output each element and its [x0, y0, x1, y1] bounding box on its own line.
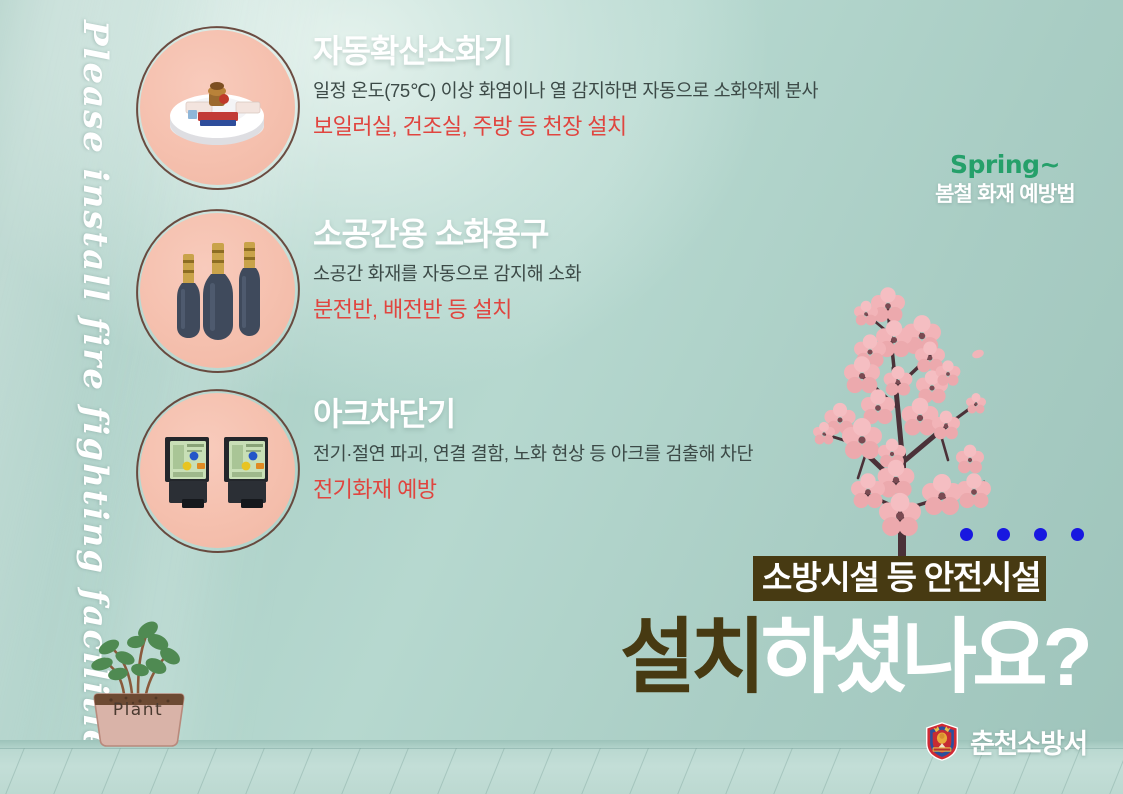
item-1-text: 자동확산소화기 일정 온도(75℃) 이상 화염이나 열 감지하면 자동으로 소… — [313, 34, 913, 141]
dot-2 — [997, 528, 1010, 541]
floor-plank — [323, 748, 373, 794]
headline-main: 설치하셨나요? — [620, 617, 1088, 699]
floor-plank — [851, 748, 901, 794]
plant-pot-illustration: Plant — [78, 608, 198, 748]
floor-plank — [803, 748, 853, 794]
item-1-description: 일정 온도(75℃) 이상 화염이나 열 감지하면 자동으로 소화약제 분사 — [313, 79, 913, 104]
poster-canvas: Please install fire fighting facilities — [0, 0, 1123, 794]
spring-badge: Spring~ 봄철 화재 예방법 — [905, 152, 1105, 205]
cherry-blossom-icon — [770, 248, 1030, 558]
floor-plank — [131, 748, 181, 794]
floor-plank — [419, 748, 469, 794]
floor-plank — [755, 748, 805, 794]
floor-plank — [1091, 748, 1123, 794]
spring-badge-english: Spring~ — [905, 152, 1105, 177]
floor-plank — [179, 748, 229, 794]
headline-band: 소방시설 등 안전시설 — [753, 556, 1046, 601]
floor-plank — [0, 748, 37, 794]
item-2-title: 소공간용 소화용구 — [313, 217, 913, 252]
floor-plank — [515, 748, 565, 794]
floor-plank — [707, 748, 757, 794]
headline-main-dark: 설치 — [620, 612, 761, 703]
dot-3 — [1034, 528, 1047, 541]
floor-plank — [659, 748, 709, 794]
floor-plank — [275, 748, 325, 794]
footer-organization-name: 춘천소방서 — [970, 731, 1087, 758]
item-1-highlight: 보일러실, 건조실, 주방 등 천장 설치 — [313, 113, 913, 141]
side-script-text: Please install fire fighting facilities — [75, 20, 115, 620]
floor-plank — [371, 748, 421, 794]
floor-plank — [611, 748, 661, 794]
headline-main-light: 하셨나요? — [761, 612, 1088, 703]
floor-plank — [563, 748, 613, 794]
floor-plank — [467, 748, 517, 794]
plant-label: Plant — [78, 700, 198, 720]
dot-1 — [960, 528, 973, 541]
item-1-title: 자동확산소화기 — [313, 34, 913, 69]
spring-badge-korean: 봄철 화재 예방법 — [905, 184, 1105, 205]
fire-department-shield-icon — [925, 722, 959, 766]
decorative-dots — [960, 528, 1084, 541]
floor-plank — [83, 748, 133, 794]
dot-4 — [1071, 528, 1084, 541]
floor-plank — [35, 748, 85, 794]
footer-branding: 춘천소방서 — [925, 722, 1087, 766]
floor-plank — [227, 748, 277, 794]
